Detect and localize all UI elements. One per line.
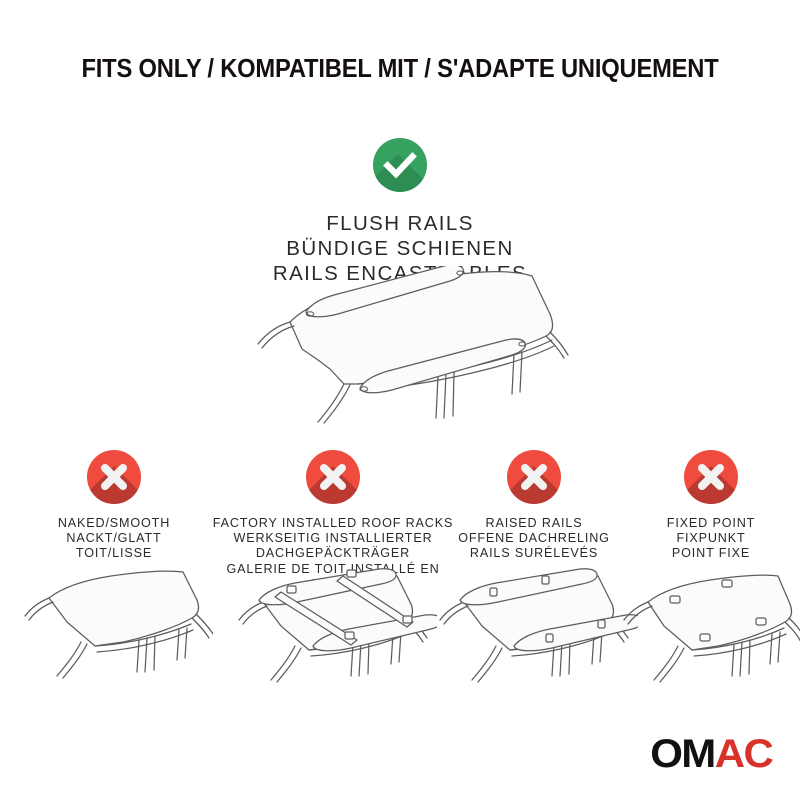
logo-text-ac: AC	[714, 732, 772, 776]
check-icon	[373, 138, 427, 192]
car-roof-factory-racks-illustration	[229, 550, 437, 692]
cross-icon	[684, 450, 738, 504]
option-label-en: FIXED POINT	[622, 516, 800, 531]
option-label-de: FIXPUNKT	[622, 531, 800, 546]
car-roof-naked-illustration	[15, 554, 213, 692]
flush-rails-label-en: FLUSH RAILS	[0, 211, 800, 236]
option-label-de: NACKT/GLATT	[16, 531, 212, 546]
car-roof-raised-rails-illustration	[430, 550, 638, 692]
flush-rails-label-de: BÜNDIGE SCHIENEN	[0, 236, 800, 261]
option-fixed-point: FIXED POINT FIXPUNKT POINT FIXE	[622, 450, 800, 562]
car-roof-fixed-point-illustration	[618, 550, 800, 692]
page-title: FITS ONLY / KOMPATIBEL MIT / S'ADAPTE UN…	[28, 55, 772, 84]
option-label-de: OFFENE DACHRELING	[438, 531, 630, 546]
option-naked-smooth: NAKED/SMOOTH NACKT/GLATT TOIT/LISSE	[16, 450, 212, 562]
car-roof-flush-rails-illustration	[232, 266, 592, 436]
cross-icon	[306, 450, 360, 504]
option-raised-rails: RAISED RAILS OFFENE DACHRELING RAILS SUR…	[438, 450, 630, 562]
option-label-en: RAISED RAILS	[438, 516, 630, 531]
cross-icon	[87, 450, 141, 504]
cross-icon	[507, 450, 561, 504]
compatible-option: FLUSH RAILS BÜNDIGE SCHIENEN RAILS ENCAS…	[0, 138, 800, 286]
option-label-en: NAKED/SMOOTH	[16, 516, 212, 531]
option-factory-roof-racks: FACTORY INSTALLED ROOF RACKS WERKSEITIG …	[208, 450, 458, 592]
omac-logo: OMAC	[650, 734, 772, 774]
incompatible-options-row: NAKED/SMOOTH NACKT/GLATT TOIT/LISSE	[0, 450, 800, 710]
logo-text-om: OM	[650, 732, 715, 776]
option-label-en: FACTORY INSTALLED ROOF RACKS	[208, 516, 458, 531]
